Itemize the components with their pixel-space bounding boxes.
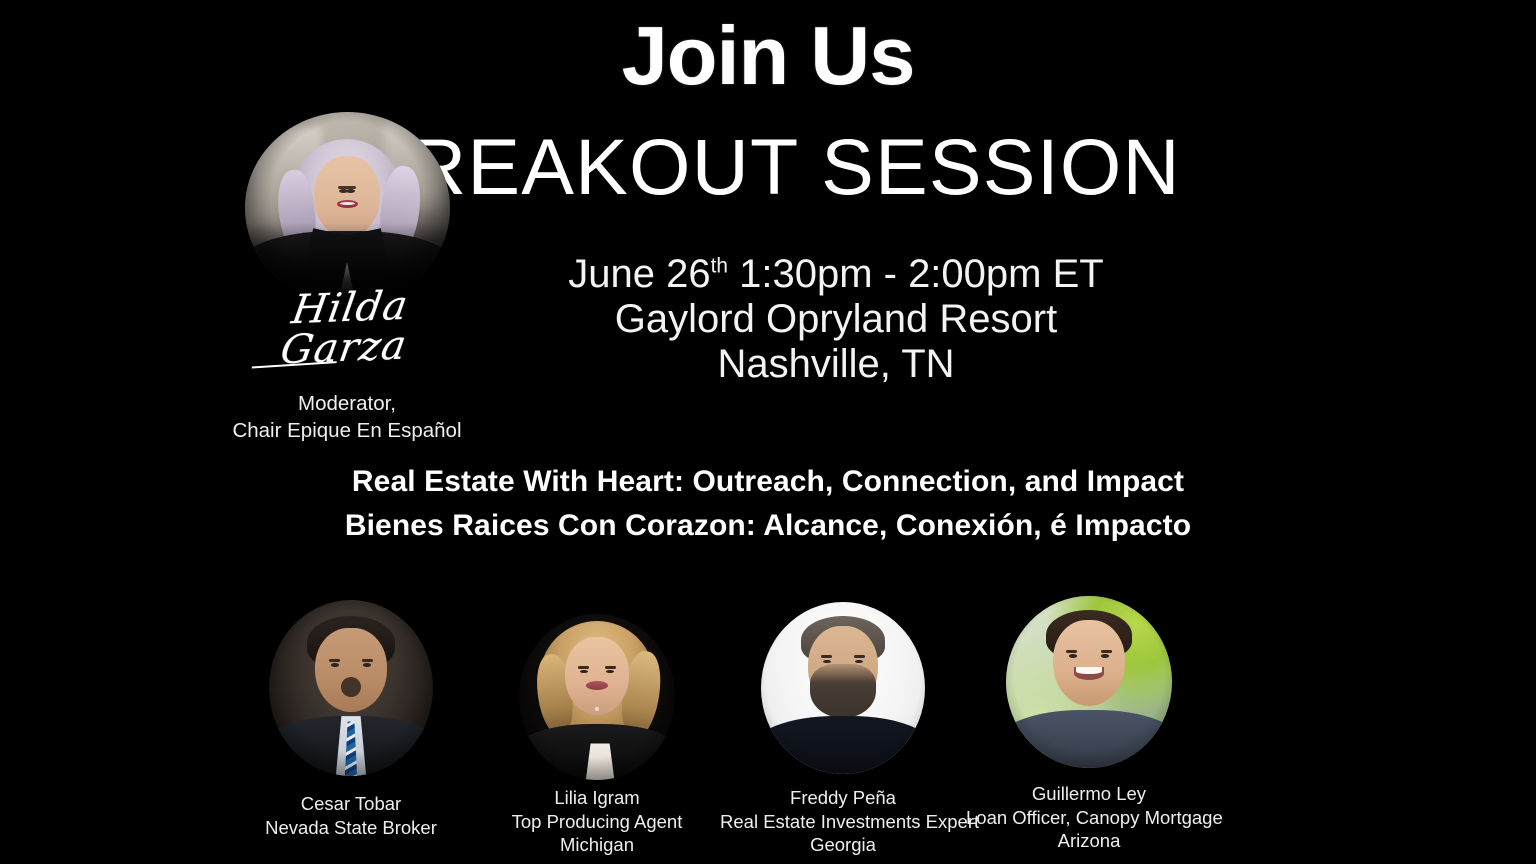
speaker-title: Real Estate Investments Expert	[720, 810, 966, 834]
session-title-block: Real Estate With Heart: Outreach, Connec…	[0, 460, 1536, 548]
speaker-caption: Lilia Igram Top Producing Agent Michigan	[474, 786, 720, 857]
speaker-caption: Cesar Tobar Nevada State Broker	[228, 792, 474, 839]
moderator-role-line-1: Moderator,	[222, 390, 472, 417]
speaker-title: Nevada State Broker	[228, 816, 474, 840]
event-venue: Gaylord Opryland Resort	[436, 297, 1236, 342]
speaker-card: Lilia Igram Top Producing Agent Michigan	[474, 596, 720, 780]
speaker-photo	[269, 600, 433, 776]
speaker-name: Lilia Igram	[474, 786, 720, 810]
date-ordinal-suffix: th	[711, 255, 728, 278]
portrait-vignette	[1006, 596, 1172, 768]
speaker-title: Top Producing Agent	[474, 810, 720, 834]
event-details: June 26th 1:30pm - 2:00pm ET Gaylord Opr…	[436, 252, 1236, 386]
speaker-title: Loan Officer, Canopy Mortgage	[966, 806, 1212, 830]
moderator-role-line-2: Chair Epique En Español	[222, 417, 472, 444]
portrait-vignette	[269, 600, 433, 776]
portrait-vignette	[761, 602, 925, 774]
portrait-vignette	[519, 614, 675, 780]
moderator-photo	[245, 112, 450, 304]
moderator-signature-text: Hilda Garza	[277, 283, 411, 374]
speaker-card: Freddy Peña Real Estate Investments Expe…	[720, 596, 966, 774]
speaker-photo	[1006, 596, 1172, 768]
speaker-caption: Freddy Peña Real Estate Investments Expe…	[720, 786, 966, 857]
speaker-card: Guillermo Ley Loan Officer, Canopy Mortg…	[966, 596, 1212, 768]
session-title-english: Real Estate With Heart: Outreach, Connec…	[0, 460, 1536, 504]
event-time: 1:30pm - 2:00pm ET	[728, 252, 1104, 296]
event-datetime: June 26th 1:30pm - 2:00pm ET	[436, 252, 1236, 297]
moderator-block: Hilda Garza Moderator, Chair Epique En E…	[222, 112, 472, 444]
event-city: Nashville, TN	[436, 342, 1236, 387]
speaker-photo	[519, 614, 675, 780]
flyer-canvas: Join Us BREAKOUT SESSION June 26th 1:30p…	[0, 0, 1536, 864]
page-title: Join Us	[0, 14, 1536, 97]
speaker-name: Cesar Tobar	[228, 792, 474, 816]
moderator-signature: Hilda Garza	[215, 283, 479, 373]
speaker-card: Cesar Tobar Nevada State Broker	[228, 596, 474, 776]
speaker-caption: Guillermo Ley Loan Officer, Canopy Mortg…	[966, 782, 1212, 853]
speaker-photo	[761, 602, 925, 774]
event-date: June 26	[568, 252, 710, 296]
speakers-row: Cesar Tobar Nevada State Broker	[228, 596, 1212, 864]
speaker-name: Guillermo Ley	[966, 782, 1212, 806]
moderator-role: Moderator, Chair Epique En Español	[222, 390, 472, 444]
speaker-location: Arizona	[966, 829, 1212, 853]
speaker-location: Michigan	[474, 833, 720, 857]
session-title-spanish: Bienes Raices Con Corazon: Alcance, Cone…	[0, 504, 1536, 548]
speaker-location: Georgia	[720, 833, 966, 857]
speaker-name: Freddy Peña	[720, 786, 966, 810]
